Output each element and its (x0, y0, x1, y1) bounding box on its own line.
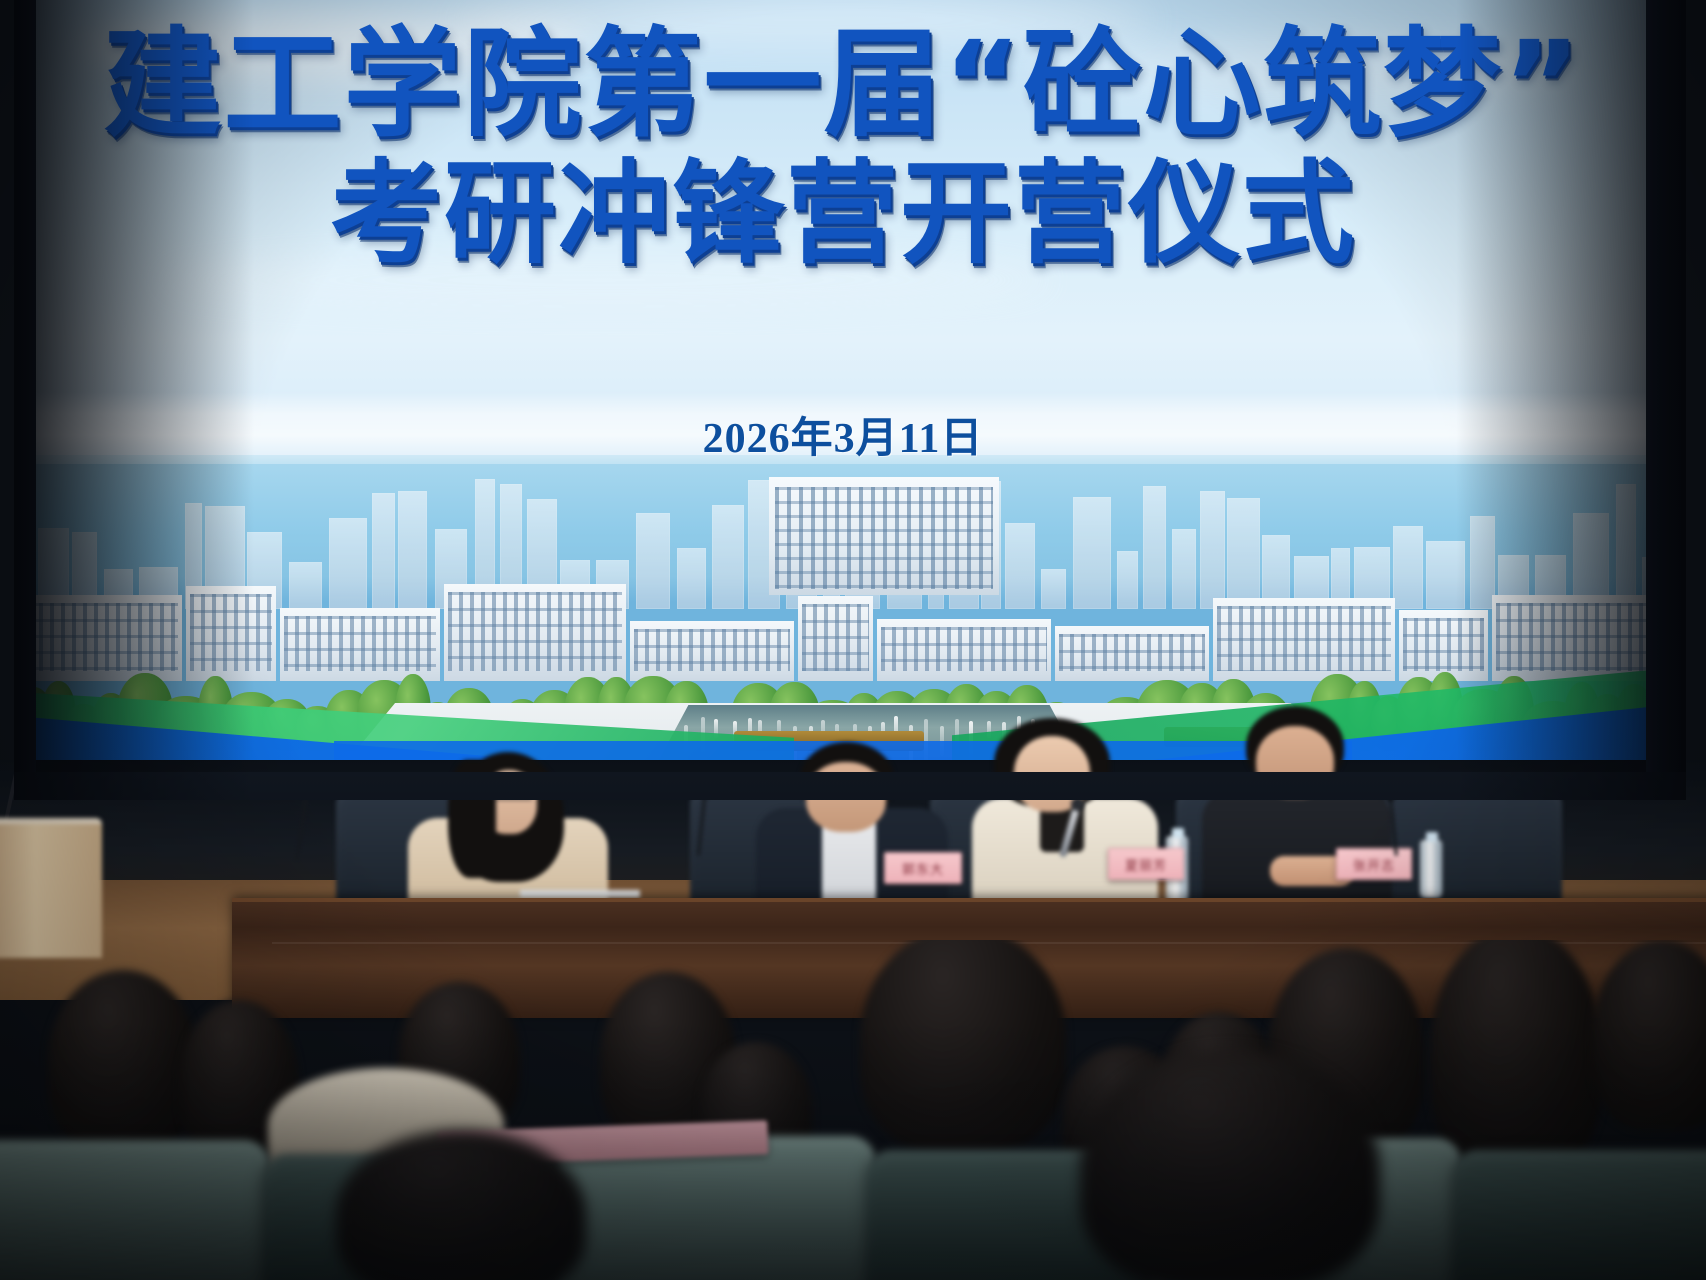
name-placard: 郭东大 (884, 852, 962, 884)
slide-title-line-1: 建工学院第一届“砼心筑梦” (34, 22, 1652, 147)
slide-title-block: 建工学院第一届“砼心筑梦” 考研冲锋营开营仪式 (34, 22, 1652, 274)
name-placard: 夏丽芳 (1108, 848, 1184, 880)
audience-person (860, 940, 1066, 1152)
screen-bezel-right (1646, 0, 1686, 800)
name-placard: 张开志 (1336, 848, 1412, 880)
podium (0, 818, 102, 958)
audience-area (0, 940, 1706, 1280)
documents (520, 890, 640, 898)
audience-person-foreground (1080, 1050, 1380, 1280)
audience-person (48, 970, 198, 1152)
audience-person (1592, 940, 1706, 1130)
screen-bezel-bottom (14, 772, 1686, 800)
slide-date: 2026年3月11日 (34, 404, 1652, 465)
auditorium-seat (0, 1140, 270, 1280)
slide-content: 建工学院第一届“砼心筑梦” 考研冲锋营开营仪式 2026年3月11日 (34, 0, 1652, 772)
led-display-screen: 建工学院第一届“砼心筑梦” 考研冲锋营开营仪式 2026年3月11日 (14, 0, 1686, 800)
main-academic-building (769, 477, 999, 595)
water-bottle (1420, 840, 1442, 898)
screen-bezel-left (14, 0, 36, 800)
auditorium-seat (1452, 1150, 1706, 1280)
slide-title-line-2: 考研冲锋营开营仪式 (34, 155, 1652, 274)
audience-person (1430, 940, 1602, 1176)
photo-scene: 建工学院第一届“砼心筑梦” 考研冲锋营开营仪式 2026年3月11日 (0, 0, 1706, 1280)
campus-photo (34, 455, 1652, 772)
